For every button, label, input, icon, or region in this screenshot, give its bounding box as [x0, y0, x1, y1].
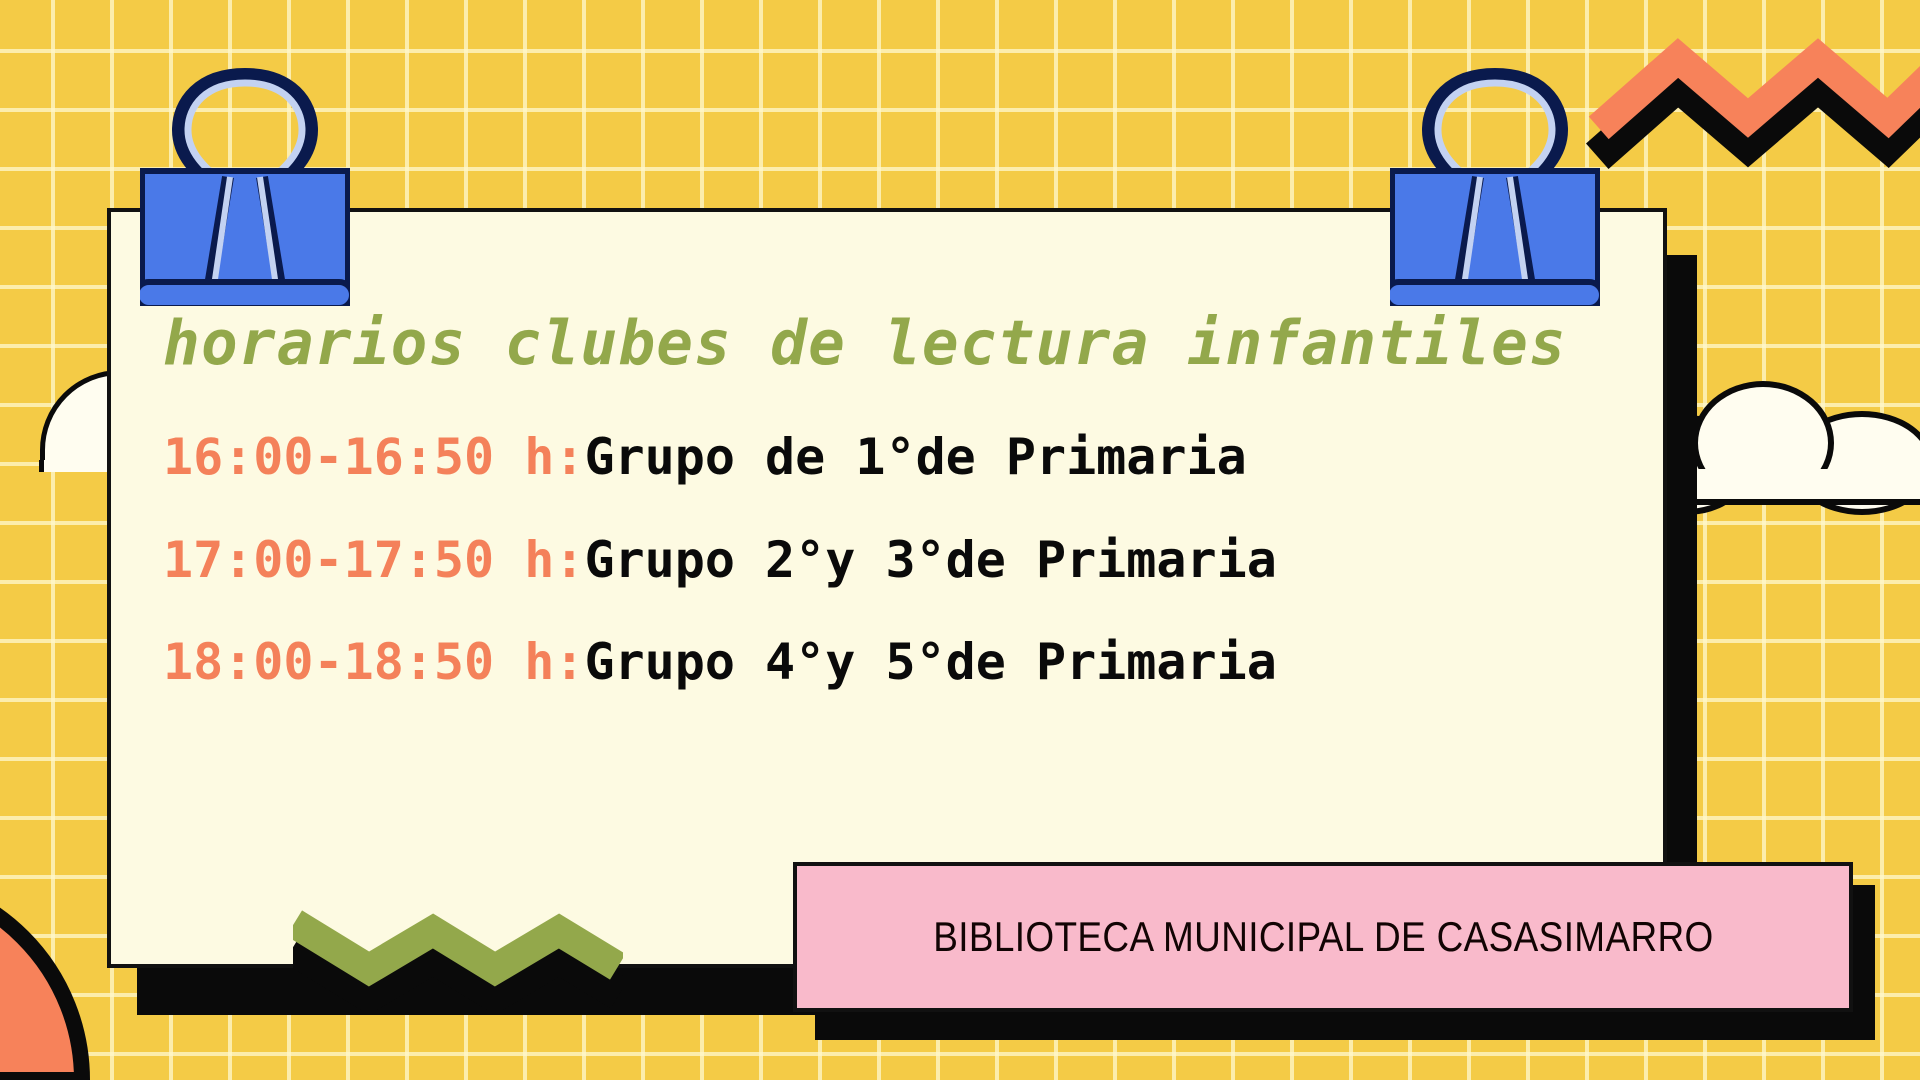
schedule-time: 16:00-16:50 h: [163, 428, 584, 486]
schedule-row: 17:00-17:50 h:Grupo 2°y 3°de Primaria [163, 534, 1663, 587]
zigzag-olive-bottom-left [293, 895, 623, 1014]
zigzag-orange-top-right [1600, 40, 1920, 160]
schedule-card: horarios clubes de lectura infantiles 16… [107, 208, 1667, 968]
binder-clip-right [1390, 58, 1600, 306]
poster-canvas: horarios clubes de lectura infantiles 16… [0, 0, 1920, 1080]
schedule-time: 17:00-17:50 h: [163, 531, 584, 589]
schedule-row: 16:00-16:50 h:Grupo de 1°de Primaria [163, 431, 1663, 484]
schedule-time: 18:00-18:50 h: [163, 633, 584, 691]
arc-orange-bottom-left [0, 758, 95, 1080]
library-banner: BIBLIOTECA MUNICIPAL DE CASASIMARRO [793, 862, 1853, 1012]
schedule-row: 18:00-18:50 h:Grupo 4°y 5°de Primaria [163, 636, 1663, 689]
schedule-group: Grupo 2°y 3°de Primaria [584, 531, 1276, 589]
binder-clip-left [140, 58, 350, 306]
schedule-group: Grupo 4°y 5°de Primaria [584, 633, 1276, 691]
schedule-group: Grupo de 1°de Primaria [584, 428, 1246, 486]
page-title: horarios clubes de lectura infantiles [163, 308, 1663, 379]
banner-label: BIBLIOTECA MUNICIPAL DE CASASIMARRO [933, 913, 1713, 961]
